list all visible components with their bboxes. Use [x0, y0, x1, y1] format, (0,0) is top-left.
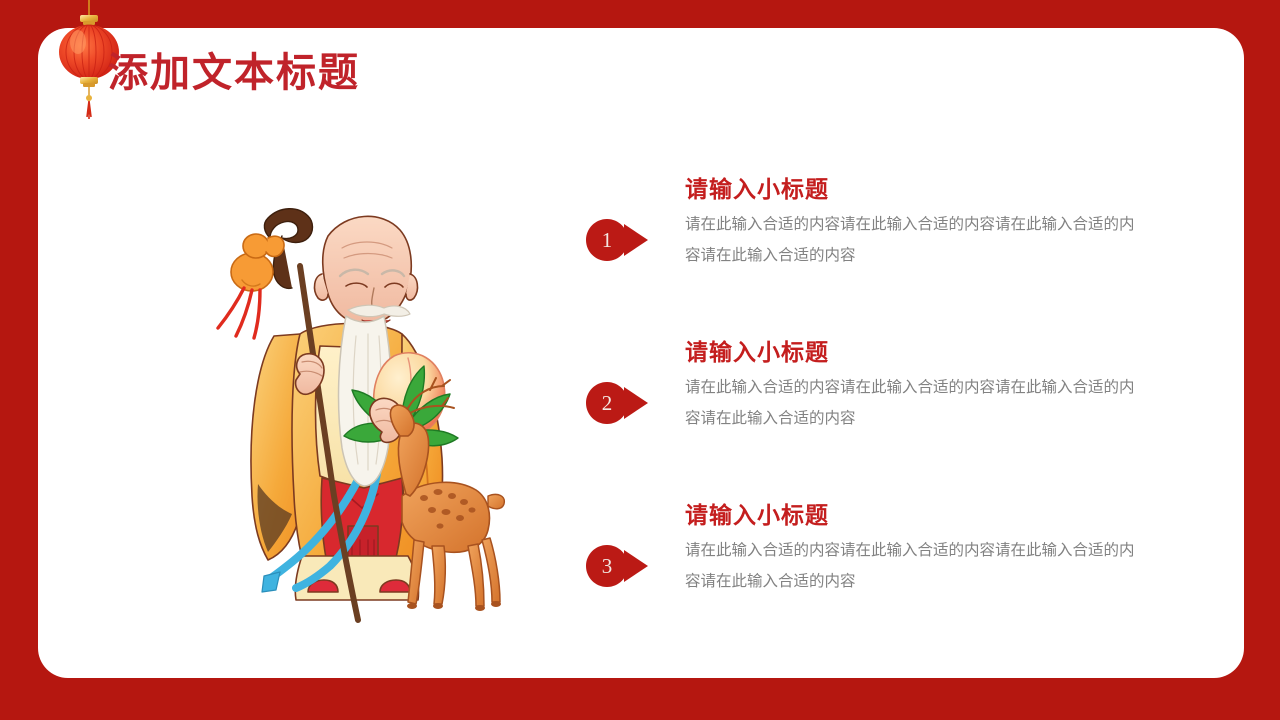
step-badge-3[interactable]: 3	[586, 545, 650, 587]
slide-header: 添加文本标题	[38, 0, 738, 130]
staff-tassel	[218, 288, 260, 338]
page-title: 添加文本标题	[108, 40, 360, 98]
step-badge-number: 3	[586, 545, 628, 587]
god-of-longevity-illustration	[196, 196, 516, 646]
content-row-text: 请输入小标题 请在此输入合适的内容请在此输入合适的内容请在此输入合适的内容请在此…	[685, 176, 1155, 271]
content-row: 1 请输入小标题 请在此输入合适的内容请在此输入合适的内容请在此输入合适的内容请…	[580, 176, 1180, 339]
step-badge-number: 2	[586, 382, 628, 424]
content-row: 3 请输入小标题 请在此输入合适的内容请在此输入合适的内容请在此输入合适的内容请…	[580, 502, 1180, 665]
content-heading: 请输入小标题	[685, 339, 1155, 368]
content-row-text: 请输入小标题 请在此输入合适的内容请在此输入合适的内容请在此输入合适的内容请在此…	[685, 339, 1155, 434]
content-heading: 请输入小标题	[685, 502, 1155, 531]
content-body: 请在此输入合适的内容请在此输入合适的内容请在此输入合适的内容请在此输入合适的内容	[685, 209, 1135, 271]
content-body: 请在此输入合适的内容请在此输入合适的内容请在此输入合适的内容请在此输入合适的内容	[685, 372, 1135, 434]
content-heading: 请输入小标题	[685, 176, 1155, 205]
moustache	[348, 305, 410, 316]
step-badge-1[interactable]: 1	[586, 219, 650, 261]
step-badge-2[interactable]: 2	[586, 382, 650, 424]
content-row: 2 请输入小标题 请在此输入合适的内容请在此输入合适的内容请在此输入合适的内容请…	[580, 339, 1180, 502]
content-body: 请在此输入合适的内容请在此输入合适的内容请在此输入合适的内容请在此输入合适的内容	[685, 535, 1135, 597]
content-row-text: 请输入小标题 请在此输入合适的内容请在此输入合适的内容请在此输入合适的内容请在此…	[685, 502, 1155, 597]
step-badge-number: 1	[586, 219, 628, 261]
content-list: 1 请输入小标题 请在此输入合适的内容请在此输入合适的内容请在此输入合适的内容请…	[580, 176, 1180, 665]
slide-canvas: 添加文本标题	[0, 0, 1280, 720]
